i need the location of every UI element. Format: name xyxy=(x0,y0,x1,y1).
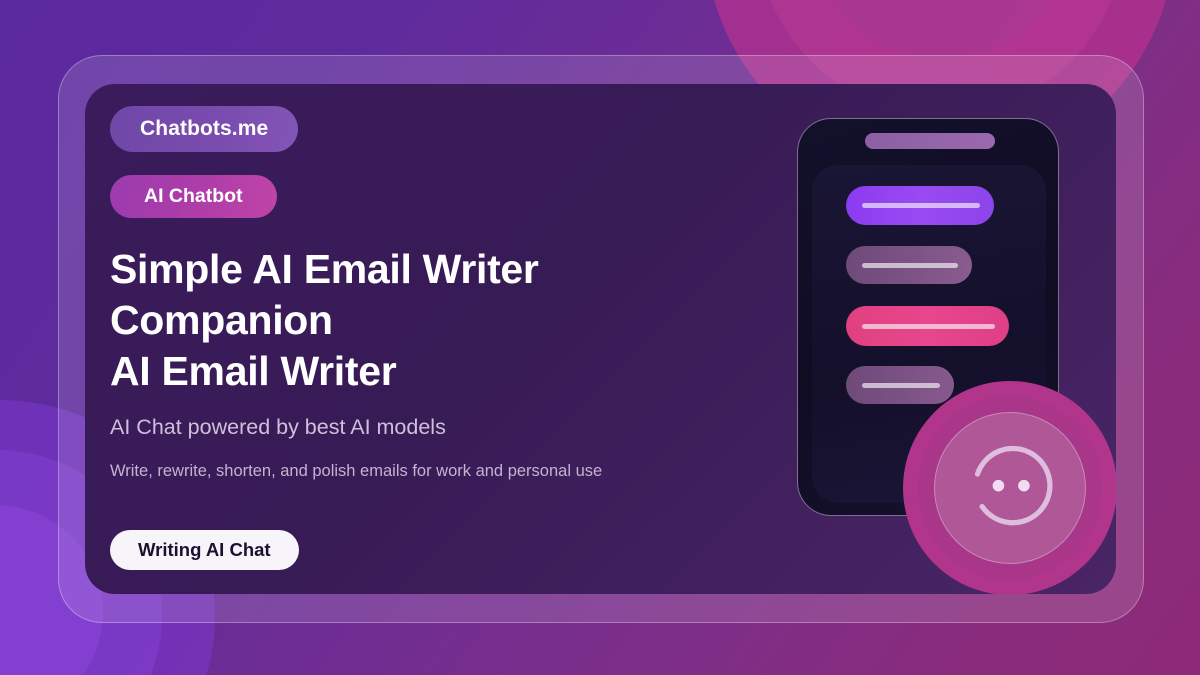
headline-line-1: Simple AI Email Writer xyxy=(110,244,760,295)
decor-circle-pink-inner xyxy=(812,0,1067,59)
page-title: Simple AI Email Writer Companion AI Emai… xyxy=(110,244,760,397)
chat-avatar-badge[interactable] xyxy=(903,381,1116,594)
chat-bubble-text-placeholder xyxy=(862,203,980,208)
headline-line-3: AI Email Writer xyxy=(110,346,760,397)
headline-line-2: Companion xyxy=(110,295,760,346)
subtitle-text: AI Chat powered by best AI models xyxy=(110,413,760,441)
left-content-column: Chatbots.me AI Chatbot Simple AI Email W… xyxy=(110,106,760,570)
chat-bubble-muted-1[interactable] xyxy=(846,246,972,284)
smiley-face-icon xyxy=(952,430,1068,546)
content-card: Chatbots.me AI Chatbot Simple AI Email W… xyxy=(85,84,1116,594)
writing-ai-chat-button[interactable]: Writing AI Chat xyxy=(110,530,299,570)
phone-mockup xyxy=(797,118,1059,516)
category-pill[interactable]: AI Chatbot xyxy=(110,175,277,218)
promo-banner: Chatbots.me AI Chatbot Simple AI Email W… xyxy=(0,0,1200,675)
description-text: Write, rewrite, shorten, and polish emai… xyxy=(110,460,760,483)
brand-pill[interactable]: Chatbots.me xyxy=(110,106,298,152)
phone-status-bar xyxy=(865,133,995,149)
chat-bubble-primary[interactable] xyxy=(846,186,994,225)
chat-bubble-accent[interactable] xyxy=(846,306,1009,346)
chat-bubble-text-placeholder xyxy=(862,263,958,268)
chat-bubble-text-placeholder xyxy=(862,324,995,329)
